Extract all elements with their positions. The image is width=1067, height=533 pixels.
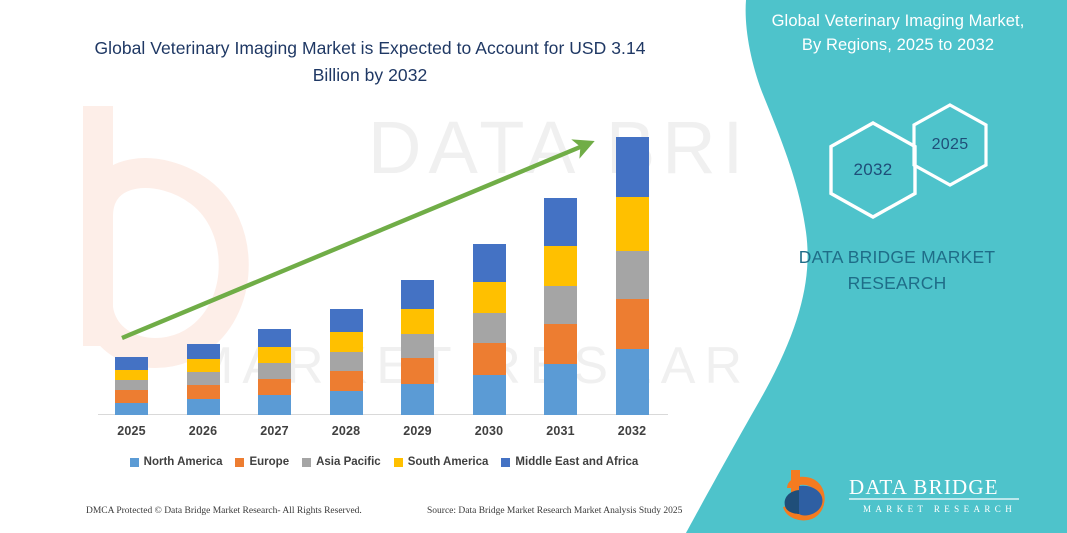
x-axis-label-2025: 2025 (102, 424, 162, 438)
panel-brand-line1: DATA BRIDGE MARKET (747, 244, 1047, 270)
legend-swatch-icon (130, 458, 139, 467)
bar-segment-south-america (115, 370, 148, 381)
legend-swatch-icon (394, 458, 403, 467)
bar-segment-south-america (473, 282, 506, 313)
chart-baseline-axis (98, 414, 668, 415)
hexagon-badge-end-year: 2032 (827, 120, 919, 220)
bar-segment-north-america (258, 395, 291, 415)
bar-segment-europe (401, 358, 434, 384)
bar-segment-asia-pacific (616, 251, 649, 299)
logo-mark-icon (785, 470, 823, 516)
bar-segment-south-america (616, 197, 649, 250)
legend-swatch-icon (302, 458, 311, 467)
legend-label: North America (144, 456, 223, 468)
legend-label: Asia Pacific (316, 456, 381, 468)
bar-2030 (473, 244, 506, 415)
x-axis-labels: 20252026202720282029203020312032 (0, 424, 740, 446)
bar-segment-europe (330, 371, 363, 391)
bar-segment-middle-east-and-africa (187, 344, 220, 359)
x-axis-label-2029: 2029 (388, 424, 448, 438)
bar-segment-south-america (258, 347, 291, 363)
bar-segment-asia-pacific (115, 380, 148, 390)
chart-plot-area: 20252026202720282029203020312032 North A… (0, 0, 740, 533)
bar-segment-asia-pacific (544, 286, 577, 324)
bar-segment-middle-east-and-africa (401, 280, 434, 309)
legend-label: South America (408, 456, 489, 468)
hexagon-badges: 2032 2025 (823, 98, 1033, 218)
bar-2025 (115, 357, 148, 415)
x-axis-label-2032: 2032 (602, 424, 662, 438)
bar-2029 (401, 280, 434, 415)
hexagon-start-year-label: 2025 (932, 136, 969, 154)
x-axis-label-2028: 2028 (316, 424, 376, 438)
bar-segment-middle-east-and-africa (544, 198, 577, 246)
panel-brand-text: DATA BRIDGE MARKET RESEARCH (747, 244, 1047, 297)
bar-segment-europe (544, 324, 577, 364)
bar-segment-europe (115, 390, 148, 402)
legend-item-south-america[interactable]: South America (394, 456, 489, 468)
infographic-root: DATA BRIDGE MARKET RESEARCH Global Veter… (0, 0, 1067, 533)
bar-segment-south-america (401, 309, 434, 334)
x-axis-label-2030: 2030 (459, 424, 519, 438)
bar-segment-europe (473, 343, 506, 375)
bar-segment-asia-pacific (187, 372, 220, 384)
bar-segment-south-america (187, 359, 220, 372)
legend-item-asia-pacific[interactable]: Asia Pacific (302, 456, 381, 468)
bar-segment-europe (187, 385, 220, 399)
x-axis-label-2027: 2027 (245, 424, 305, 438)
panel-brand-line2: RESEARCH (747, 270, 1047, 296)
bar-2031 (544, 198, 577, 415)
bar-2026 (187, 344, 220, 415)
bar-segment-south-america (330, 332, 363, 352)
footer: DMCA Protected © Data Bridge Market Rese… (0, 506, 700, 524)
chart-legend: North AmericaEuropeAsia PacificSouth Ame… (98, 456, 670, 468)
panel-title-line2: By Regions, 2025 to 2032 (735, 34, 1061, 58)
data-bridge-logo: DATA BRIDGE MARKET RESEARCH (777, 466, 1027, 522)
legend-swatch-icon (501, 458, 510, 467)
bar-segment-asia-pacific (401, 334, 434, 358)
bar-segment-middle-east-and-africa (616, 137, 649, 197)
panel-title: Global Veterinary Imaging Market, By Reg… (735, 10, 1061, 58)
hexagon-badge-start-year: 2025 (911, 102, 989, 188)
bar-segment-europe (616, 299, 649, 350)
logo-subtitle: MARKET RESEARCH (863, 504, 1016, 514)
bar-2032 (616, 137, 649, 415)
bar-segment-south-america (544, 246, 577, 286)
legend-swatch-icon (235, 458, 244, 467)
legend-item-north-america[interactable]: North America (130, 456, 223, 468)
bar-segment-asia-pacific (473, 313, 506, 343)
x-axis-label-2026: 2026 (173, 424, 233, 438)
bar-segment-middle-east-and-africa (330, 309, 363, 332)
legend-label: Middle East and Africa (515, 456, 638, 468)
bar-2027 (258, 329, 291, 415)
bar-segment-middle-east-and-africa (258, 329, 291, 348)
footer-copyright: DMCA Protected © Data Bridge Market Rese… (86, 506, 362, 516)
legend-item-middle-east-and-africa[interactable]: Middle East and Africa (501, 456, 638, 468)
bar-segment-north-america (544, 364, 577, 415)
legend-item-europe[interactable]: Europe (235, 456, 289, 468)
x-axis-label-2031: 2031 (531, 424, 591, 438)
bar-segment-middle-east-and-africa (473, 244, 506, 281)
bar-segment-europe (258, 379, 291, 396)
bar-segment-asia-pacific (330, 352, 363, 371)
bar-segment-asia-pacific (258, 363, 291, 378)
logo-title: DATA BRIDGE (849, 475, 999, 499)
hexagon-end-year-label: 2032 (853, 160, 892, 180)
bar-2028 (330, 309, 363, 415)
bar-segment-north-america (187, 399, 220, 415)
panel-content: Global Veterinary Imaging Market, By Reg… (727, 0, 1067, 533)
bar-segment-north-america (473, 375, 506, 415)
bar-segment-north-america (401, 384, 434, 415)
legend-label: Europe (249, 456, 289, 468)
bar-segment-north-america (616, 349, 649, 415)
bar-segment-middle-east-and-africa (115, 357, 148, 369)
footer-source: Source: Data Bridge Market Research Mark… (427, 506, 682, 516)
bar-segment-north-america (115, 403, 148, 415)
bar-segment-north-america (330, 391, 363, 415)
panel-title-line1: Global Veterinary Imaging Market, (735, 10, 1061, 34)
